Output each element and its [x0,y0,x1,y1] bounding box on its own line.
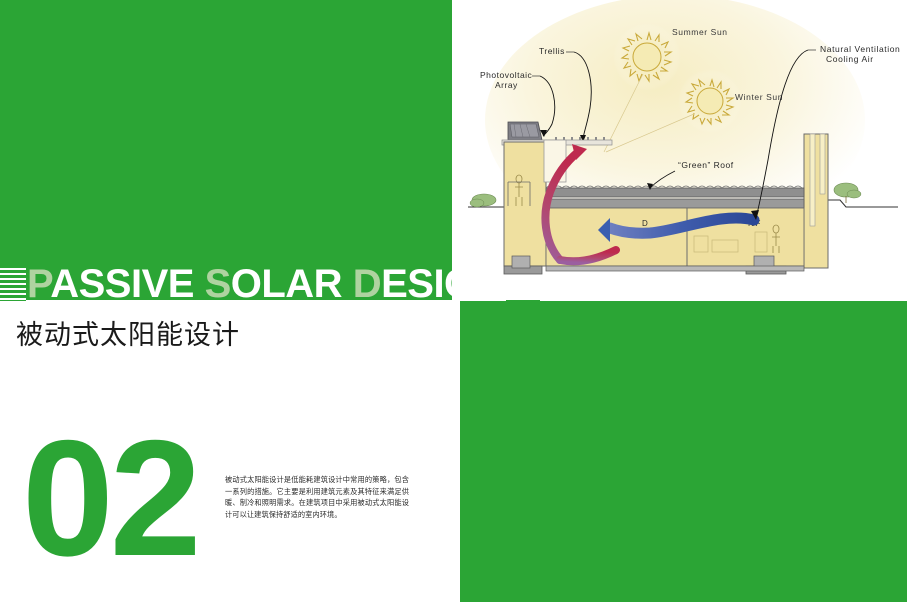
passive-solar-diagram: Summer Sun Winter Sun Trellis Photovolta… [460,0,907,300]
title-letter-p: P [27,262,50,306]
green-panel-left [0,0,452,300]
label-photovoltaic-array-line2: Array [495,80,518,90]
title-band: PASSIVE SOLAR DESIGN [0,264,460,304]
right-wall-window-2 [820,134,825,194]
label-trellis: Trellis [539,46,565,56]
photovoltaic-panel [508,122,542,140]
label-winter-sun: Winter Sun [735,92,783,102]
title-part-assive: ASSIVE [50,262,204,306]
green-roof-slab [546,188,804,197]
ground-slab [546,266,804,271]
section-number: 02 [22,416,198,581]
title-part-olar: OLAR [231,262,353,306]
title-letter-d: D [353,262,381,306]
diagram-svg: Summer Sun Winter Sun Trellis Photovolta… [460,0,907,300]
label-green-roof: “Green” Roof [678,160,734,170]
right-wall-window [810,134,815,226]
green-panel-bottom-right [460,301,907,602]
winter-sun-icon [678,69,742,133]
body-paragraph: 被动式太阳能设计是低能耗建筑设计中常用的策略，包含一系列的措施。它主要是利用建筑… [225,474,409,520]
left-wall [504,142,546,266]
title-letter-s: S [205,262,231,306]
label-summer-sun: Summer Sun [672,27,728,37]
label-photovoltaic-array-line1: Photovoltaic [480,70,533,80]
label-room-d: D [642,219,648,228]
page-subtitle: 被动式太阳能设计 [16,313,240,352]
floor-slab [546,199,804,208]
summer-sun-icon [613,23,681,91]
label-natural-ventilation-line2: Cooling Air [826,54,874,64]
page-title: PASSIVE SOLAR DESIGN [26,264,504,304]
label-natural-ventilation-line1: Natural Ventilation [820,44,900,54]
stripe-pattern-left [0,268,26,301]
